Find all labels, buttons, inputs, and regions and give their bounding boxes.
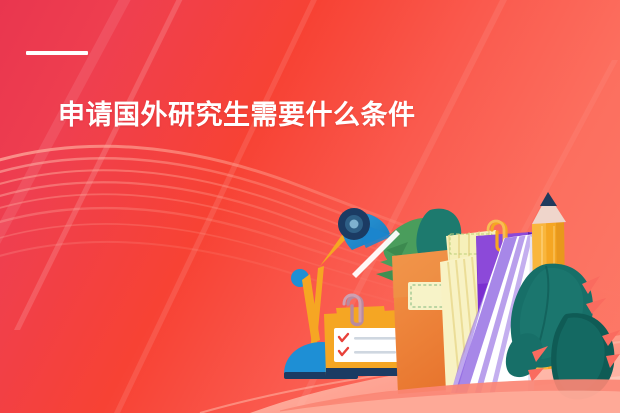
clipboard-icon [324,295,404,376]
study-supplies-illustration [280,188,620,413]
article-cover-banner: 申请国外研究生需要什么条件 [0,0,620,413]
title-accent-rule [26,51,88,55]
page-title: 申请国外研究生需要什么条件 [58,102,416,129]
